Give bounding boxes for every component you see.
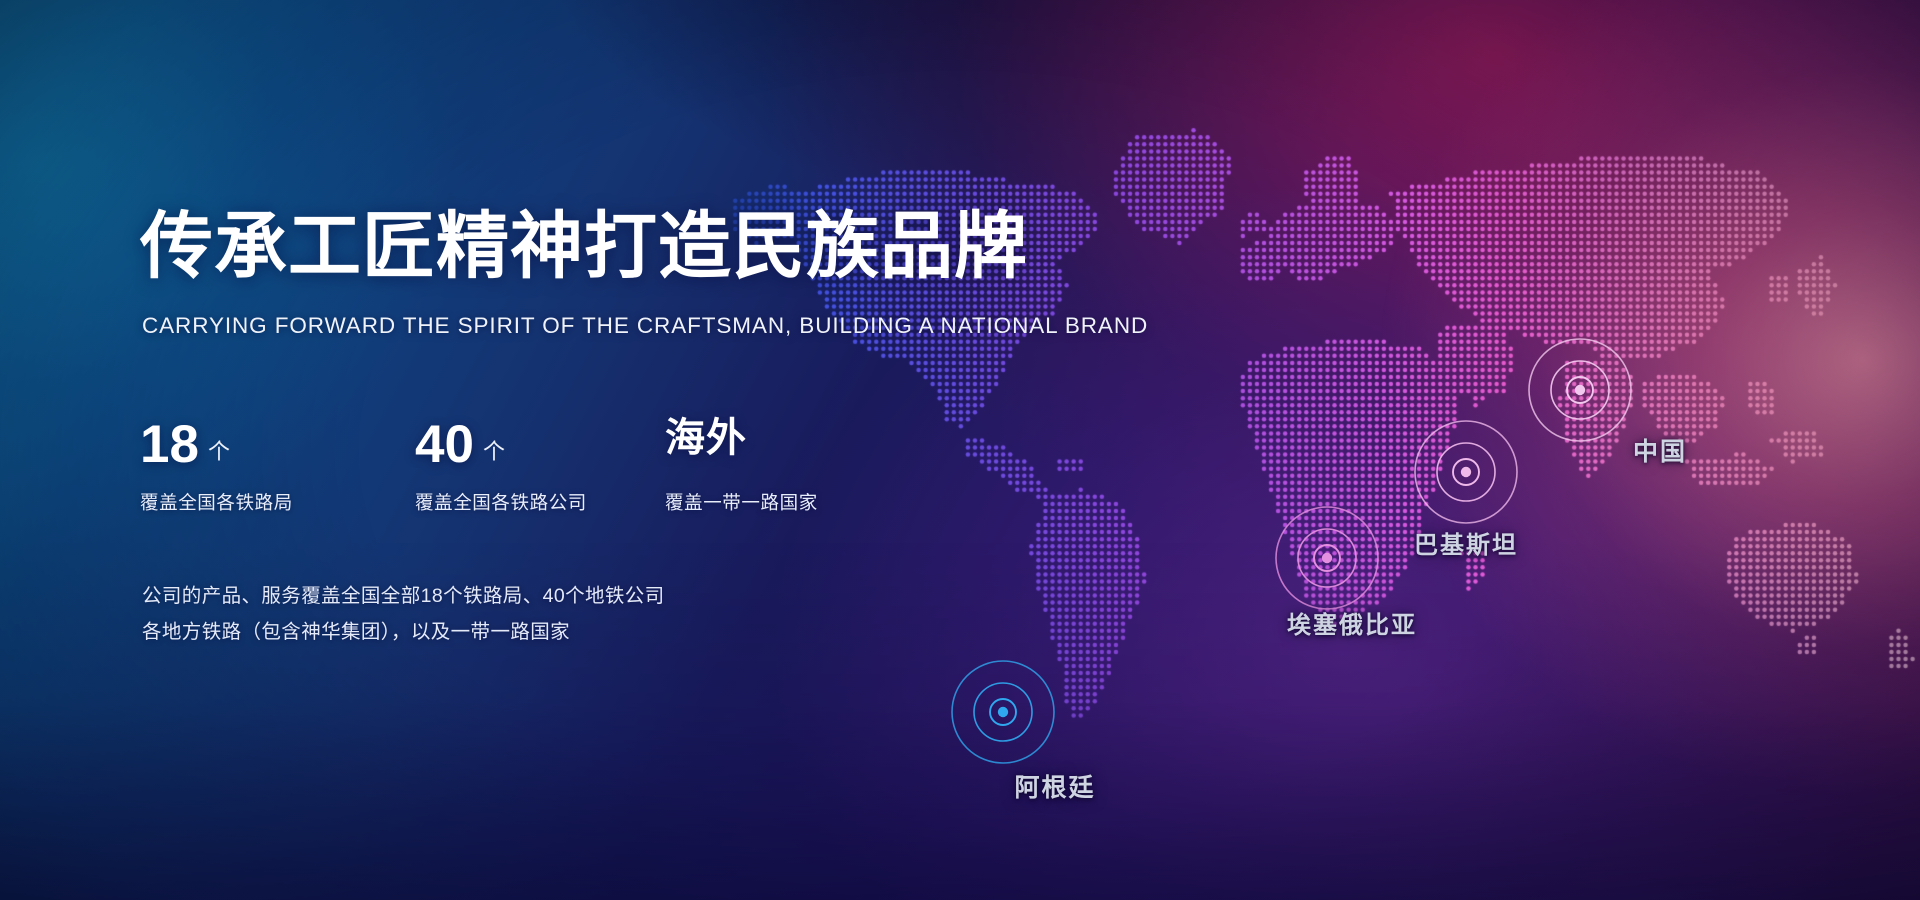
page-title: 传承工匠精神打造民族品牌 bbox=[140, 210, 1028, 283]
stat-value-group: 40 个 bbox=[415, 418, 665, 478]
page-subtitle: CARRYING FORWARD THE SPIRIT OF THE CRAFT… bbox=[142, 315, 1148, 338]
stat-value-group: 海外 bbox=[665, 418, 915, 478]
stat-description: 覆盖全国各铁路局 bbox=[140, 494, 415, 513]
stat-description: 覆盖一带一路国家 bbox=[665, 494, 915, 513]
map-marker-label-2: 埃塞俄比亚 bbox=[1287, 605, 1417, 640]
stat-unit: 个 bbox=[208, 441, 230, 463]
stat-value-group: 18 个 bbox=[140, 418, 415, 478]
stat-value: 18 bbox=[140, 418, 199, 471]
map-marker-label-1: 巴基斯坦 bbox=[1414, 525, 1518, 560]
map-marker-0[interactable] bbox=[1516, 326, 1644, 454]
banner-content: 传承工匠精神打造民族品牌 CARRYING FORWARD THE SPIRIT… bbox=[140, 0, 1120, 900]
statistics-row: 18 个 覆盖全国各铁路局 40 个 覆盖全国各铁路公司 海外 覆盖一带一路国家 bbox=[140, 418, 915, 513]
hero-banner: 中国巴基斯坦埃塞俄比亚阿根廷 传承工匠精神打造民族品牌 CARRYING FOR… bbox=[0, 0, 1920, 900]
stat-description: 覆盖全国各铁路公司 bbox=[415, 494, 665, 513]
stat-value: 40 bbox=[415, 418, 474, 471]
description-block: 公司的产品、服务覆盖全国全部18个铁路局、40个地铁公司 各地方铁路（包含神华集… bbox=[142, 578, 665, 650]
description-line-2: 各地方铁路（包含神华集团），以及一带一路国家 bbox=[142, 614, 665, 650]
stat-unit: 个 bbox=[483, 441, 505, 463]
map-marker-label-0: 中国 bbox=[1633, 432, 1687, 468]
stat-item-railway-bureaus: 18 个 覆盖全国各铁路局 bbox=[140, 418, 415, 513]
stat-value: 海外 bbox=[665, 418, 747, 458]
map-marker-2[interactable] bbox=[1263, 494, 1391, 622]
map-marker-1[interactable] bbox=[1402, 408, 1530, 536]
stat-item-railway-companies: 40 个 覆盖全国各铁路公司 bbox=[415, 418, 665, 513]
stat-item-overseas: 海外 覆盖一带一路国家 bbox=[665, 418, 915, 513]
description-line-1: 公司的产品、服务覆盖全国全部18个铁路局、40个地铁公司 bbox=[142, 578, 665, 614]
